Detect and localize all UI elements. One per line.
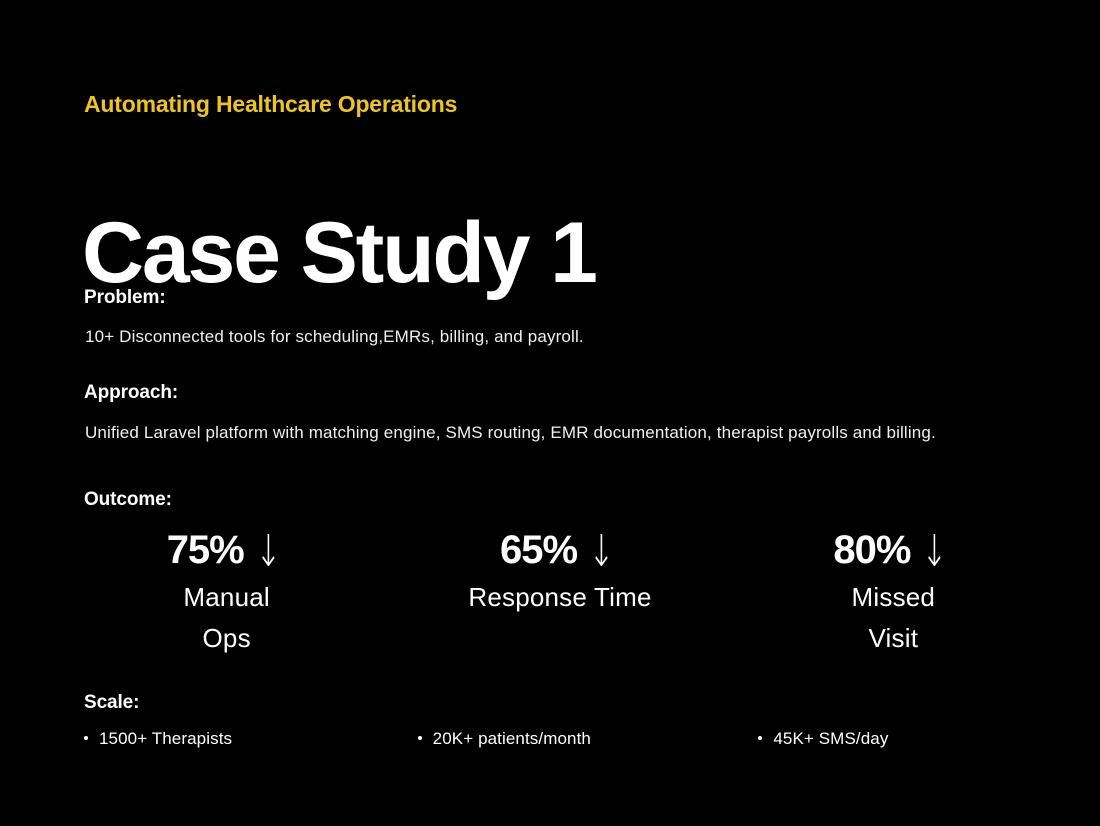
- approach-text: Unified Laravel platform with matching e…: [85, 420, 965, 446]
- stat-label: Response Time: [468, 577, 651, 618]
- stat-value: 80%: [833, 528, 910, 572]
- slide-kicker: Automating Healthcare Operations: [84, 91, 457, 118]
- list-item-label: 20K+ patients/month: [433, 729, 591, 749]
- scale-list: 1500+ Therapists 20K+ patients/month 45K…: [84, 729, 1044, 749]
- scale-label: Scale:: [84, 692, 139, 714]
- list-item: 20K+ patients/month: [370, 729, 704, 749]
- bullet-icon: [84, 736, 88, 740]
- stat-label: Missed Visit: [833, 577, 953, 659]
- stat-block: 80% ↓ Missed Visit: [727, 528, 1060, 659]
- stat-value-group: 75% ↓: [167, 528, 287, 573]
- stat-value: 65%: [500, 528, 577, 572]
- problem-text: 10+ Disconnected tools for scheduling,EM…: [85, 324, 705, 350]
- stat-label: Manual Ops: [167, 577, 287, 659]
- arrow-down-icon: ↓: [922, 531, 948, 573]
- stat-value: 75%: [167, 528, 244, 572]
- stat-block: 65% ↓ Response Time: [393, 528, 726, 618]
- problem-label: Problem:: [84, 287, 166, 309]
- outcome-stats-row: 75% ↓ Manual Ops 65% ↓ Response Time 80%…: [60, 528, 1060, 659]
- approach-label: Approach:: [84, 382, 178, 404]
- arrow-down-icon: ↓: [589, 531, 615, 573]
- stat-value-group: 65% ↓: [500, 528, 620, 573]
- outcome-label: Outcome:: [84, 489, 172, 511]
- slide-canvas: Automating Healthcare Operations Case St…: [0, 0, 1100, 826]
- arrow-down-icon: ↓: [255, 531, 281, 573]
- stat-value-group: 80% ↓: [833, 528, 953, 573]
- stat-block: 75% ↓ Manual Ops: [60, 528, 393, 659]
- page-title: Case Study 1: [82, 210, 596, 296]
- list-item-label: 1500+ Therapists: [99, 729, 232, 749]
- bullet-icon: [758, 736, 762, 740]
- list-item-label: 45K+ SMS/day: [773, 729, 888, 749]
- list-item: 1500+ Therapists: [84, 729, 370, 749]
- list-item: 45K+ SMS/day: [703, 729, 1044, 749]
- bullet-icon: [418, 736, 422, 740]
